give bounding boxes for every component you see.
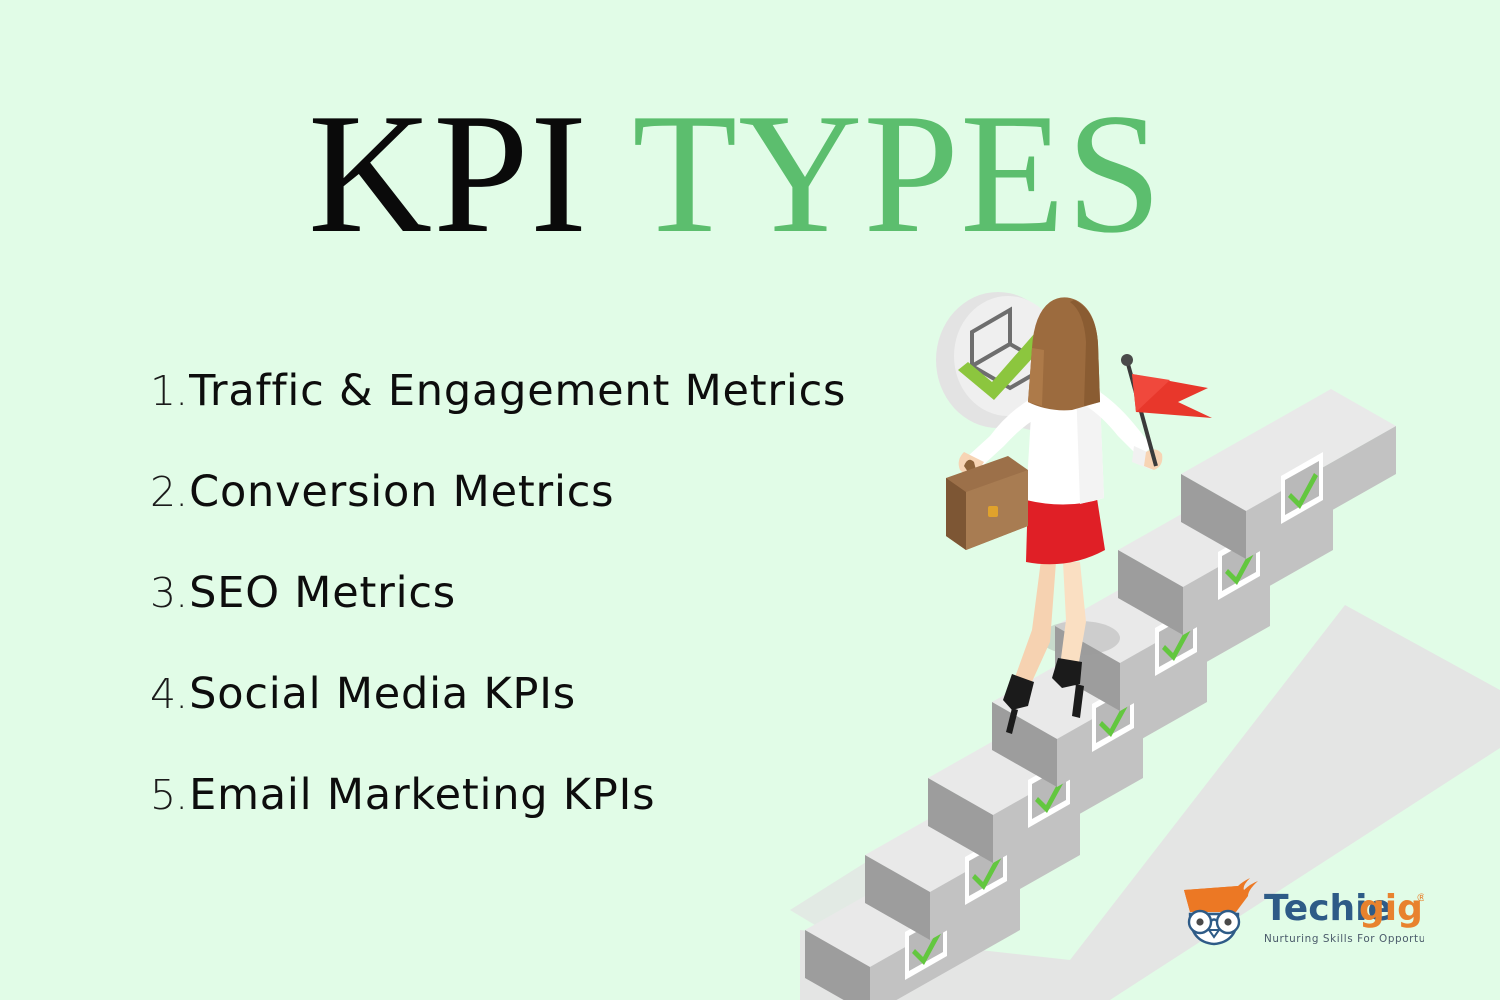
list-item-label: Email Marketing KPIs xyxy=(189,770,655,820)
step-7 xyxy=(1181,389,1396,559)
logo-name-part2: gigs xyxy=(1359,888,1424,929)
page-title: KPI TYPES xyxy=(308,88,1208,260)
leg-back xyxy=(1014,560,1056,686)
list-item-label: Traffic & Engagement Metrics xyxy=(189,366,846,416)
title-part-types: TYPES xyxy=(632,79,1163,269)
logo-tagline: Nurturing Skills For Opportunities xyxy=(1264,933,1424,945)
list-item-number: 4. xyxy=(150,670,187,718)
list-item-number: 3. xyxy=(150,569,187,617)
list-item-label: SEO Metrics xyxy=(189,568,456,618)
list-item-number: 5. xyxy=(150,771,187,819)
title-part-kpi: KPI xyxy=(308,79,588,269)
infographic-canvas: KPI TYPES 1. Traffic & Engagement Metric… xyxy=(0,0,1500,1000)
list-item-label: Social Media KPIs xyxy=(189,669,576,719)
list-item-label: Conversion Metrics xyxy=(189,467,614,517)
registered-mark-icon: ® xyxy=(1416,891,1424,904)
list-item-number: 1. xyxy=(150,367,187,415)
owl-graduate-icon xyxy=(1184,878,1258,944)
list-item-number: 2. xyxy=(150,468,187,516)
briefcase xyxy=(946,456,1028,550)
techiegigs-logo[interactable]: Techie gigs ® Nurturing Skills For Oppor… xyxy=(1176,872,1424,950)
